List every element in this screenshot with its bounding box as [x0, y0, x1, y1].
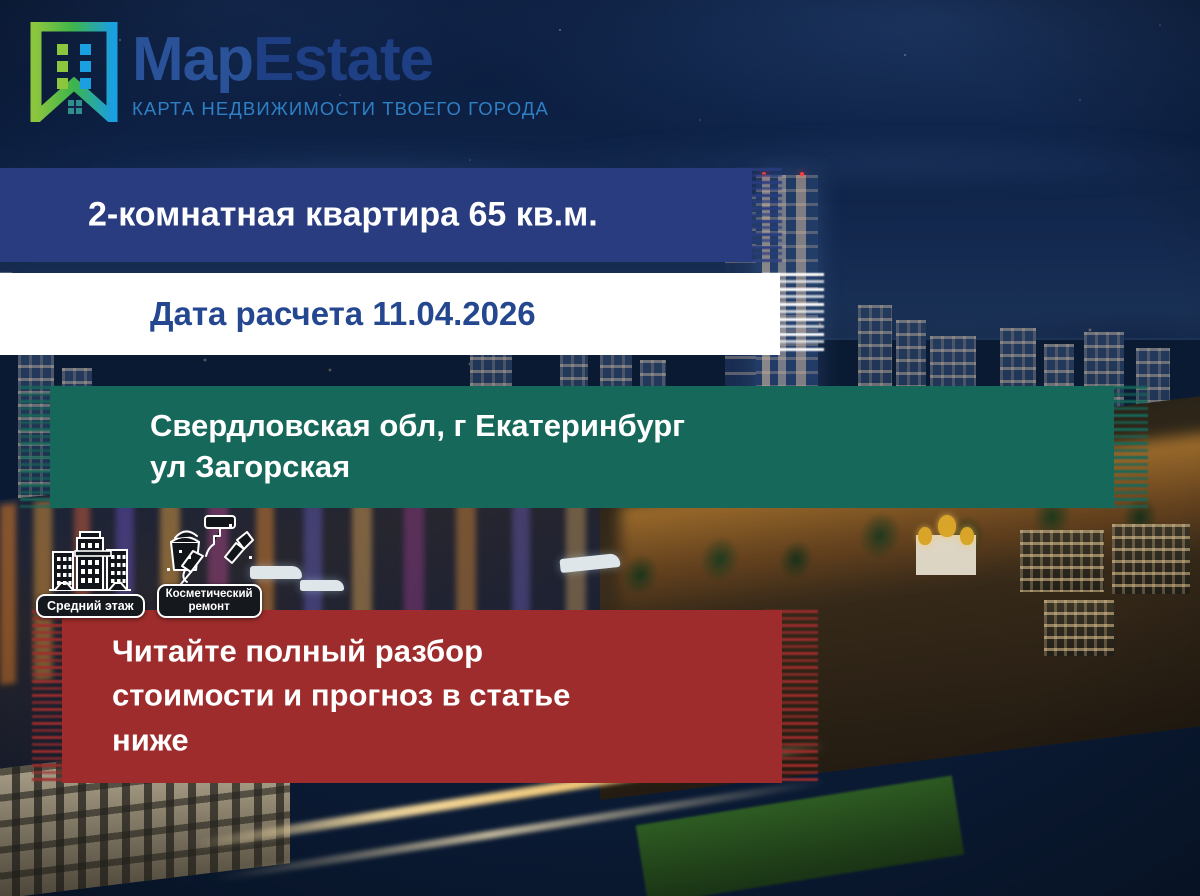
brush-edge	[0, 273, 12, 355]
apartment-building-icon	[47, 530, 133, 598]
address-banner: Свердловская обл, г Екатеринбург ул Заго…	[50, 386, 1114, 508]
brush-edge	[1096, 386, 1148, 508]
badge-middle-floor-label: Средний этаж	[36, 594, 145, 618]
property-title-banner: 2-комнатная квартира 65 кв.м.	[0, 168, 752, 262]
church-dome-icon	[918, 527, 932, 545]
brand-name: MapEstate	[132, 29, 549, 91]
badge-cosmetic-renovation-label: Косметический ремонт	[157, 584, 262, 618]
property-title-text: 2-комнатная квартира 65 кв.м.	[88, 196, 598, 235]
badge-middle-floor[interactable]: Средний этаж	[36, 530, 145, 618]
calculation-date-banner: Дата расчета 11.04.2026	[0, 273, 780, 355]
bookmark-building-icon	[30, 22, 118, 122]
brush-edge	[32, 610, 76, 783]
cta-text: Читайте полный разбор стоимости и прогно…	[112, 629, 570, 764]
middle-floor-marker	[75, 551, 111, 556]
brand-tagline: КАРТА НЕДВИЖИМОСТИ ТВОЕГО ГОРОДА	[132, 100, 549, 119]
park-lawn	[636, 775, 965, 896]
church-dome-icon	[960, 527, 974, 545]
building	[1044, 600, 1114, 656]
brush-edge	[762, 273, 824, 355]
brush-edge	[764, 610, 818, 783]
paint-roller-brush-icon	[159, 512, 259, 588]
brush-edge	[736, 168, 782, 262]
address-text: Свердловская обл, г Екатеринбург ул Заго…	[150, 406, 685, 488]
brand-name-part2: Estate	[253, 25, 433, 94]
building	[1020, 530, 1104, 592]
cta-banner[interactable]: Читайте полный разбор стоимости и прогно…	[62, 610, 782, 783]
badge-cosmetic-renovation[interactable]: Косметический ремонт	[157, 512, 262, 618]
building	[1112, 524, 1190, 594]
church-dome-icon	[938, 515, 956, 537]
brand-logo[interactable]: MapEstate КАРТА НЕДВИЖИМОСТИ ТВОЕГО ГОРО…	[30, 22, 549, 122]
brand-name-part1: Map	[132, 25, 253, 94]
church-building	[898, 505, 994, 575]
brand-text: MapEstate КАРТА НЕДВИЖИМОСТИ ТВОЕГО ГОРО…	[132, 25, 549, 119]
feature-badges: Средний этаж	[36, 512, 262, 618]
brush-edge	[20, 386, 64, 508]
promo-poster: MapEstate КАРТА НЕДВИЖИМОСТИ ТВОЕГО ГОРО…	[0, 0, 1200, 896]
tower-beacon-icon	[800, 172, 804, 176]
river-boat	[300, 580, 344, 591]
calculation-date-text: Дата расчета 11.04.2026	[150, 295, 536, 333]
